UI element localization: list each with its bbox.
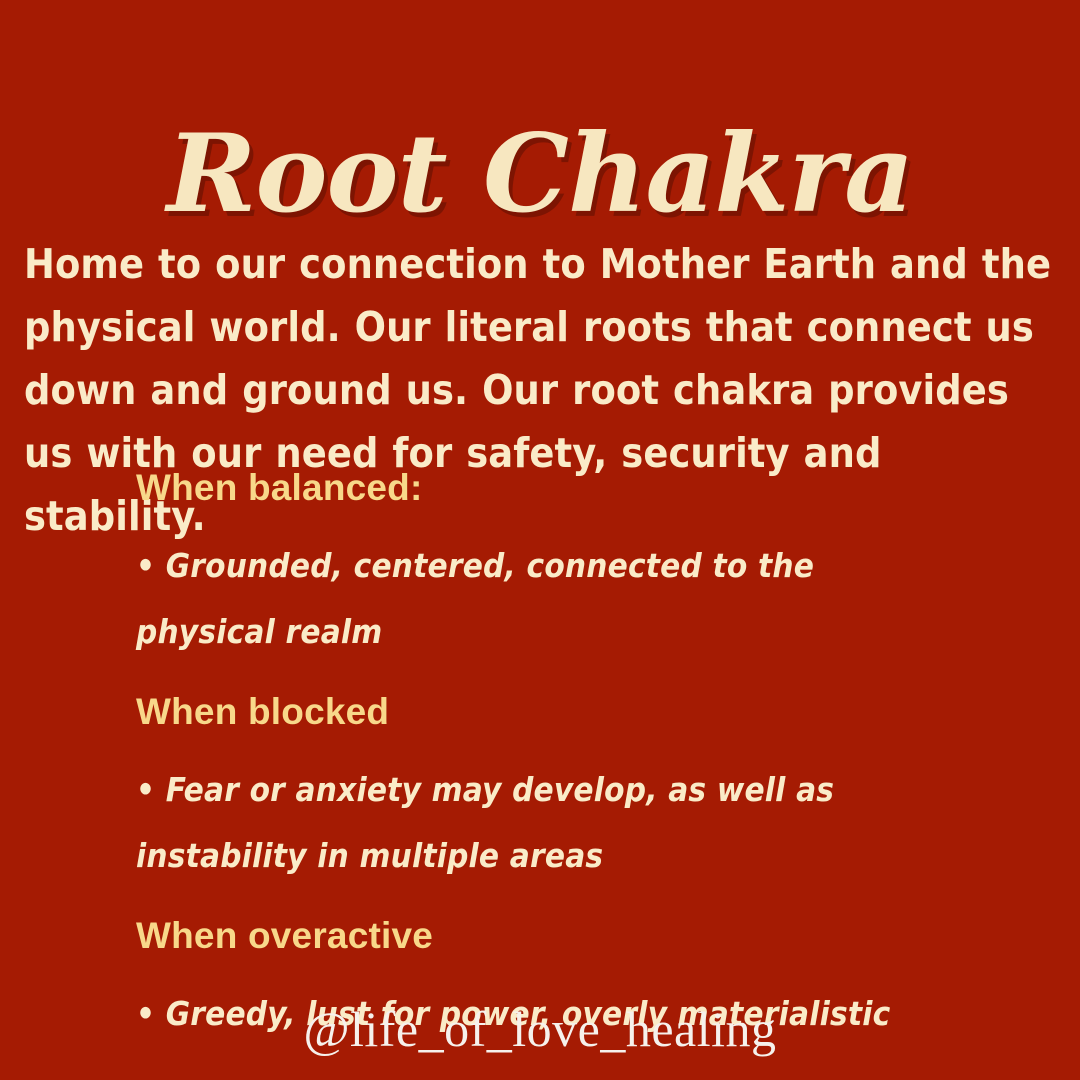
section-bullet-balanced: • Grounded, centered, connected to the p… <box>136 533 936 665</box>
section-bullet-blocked: • Fear or anxiety may develop, as well a… <box>136 757 936 889</box>
page-title: Root Chakra <box>0 116 1080 233</box>
section-heading-overactive: When overactive <box>136 913 1036 959</box>
section-balanced: When balanced: • Grounded, centered, con… <box>136 465 1036 665</box>
section-heading-balanced: When balanced: <box>136 465 1036 511</box>
section-blocked: When blocked • Fear or anxiety may devel… <box>136 689 1036 889</box>
chakra-states-list: When balanced: • Grounded, centered, con… <box>136 465 1036 1061</box>
account-handle: @life_of_love_healing <box>0 1000 1080 1058</box>
root-chakra-poster: Root Chakra Home to our connection to Mo… <box>0 0 1080 1080</box>
section-heading-blocked: When blocked <box>136 689 1036 735</box>
